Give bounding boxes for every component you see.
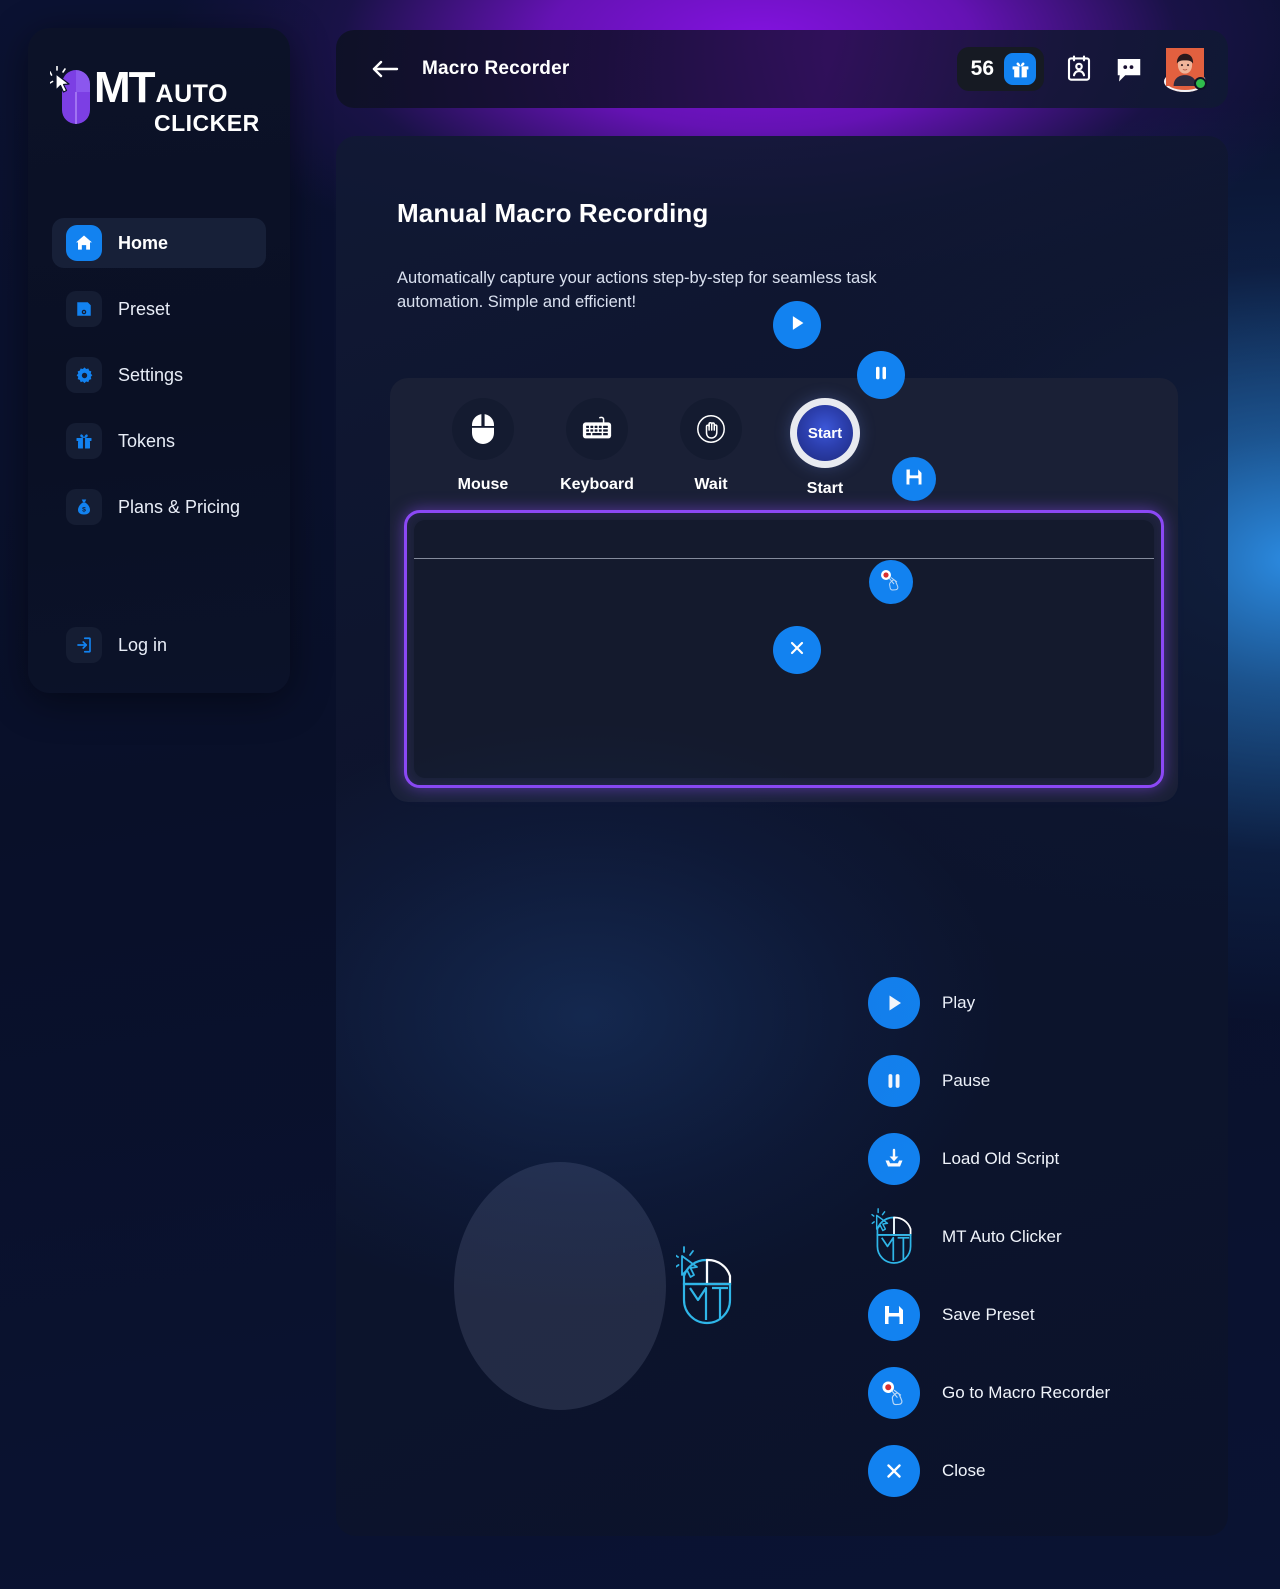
radial-action-record[interactable] xyxy=(869,560,913,604)
legend-label: Pause xyxy=(942,1071,990,1091)
download-tray-icon xyxy=(868,1133,920,1185)
main-content-card: Manual Macro Recording Automatically cap… xyxy=(336,136,1228,1536)
sidebar-item-settings[interactable]: Settings xyxy=(52,350,266,400)
token-count: 56 xyxy=(971,57,994,81)
macro-toolbar-panel: Mouse xyxy=(390,378,1178,802)
action-legend: Play Pause Load Old Sc xyxy=(868,964,1198,1510)
legend-item-save-preset[interactable]: Save Preset xyxy=(868,1276,1198,1354)
legend-item-play[interactable]: Play xyxy=(868,964,1198,1042)
legend-item-load-old-script[interactable]: Load Old Script xyxy=(868,1120,1198,1198)
legend-item-mt-auto-clicker[interactable]: MT Auto Clicker xyxy=(868,1198,1198,1276)
login-icon xyxy=(66,627,102,663)
avatar[interactable] xyxy=(1164,48,1206,90)
pause-icon xyxy=(871,363,891,388)
script-header-divider xyxy=(414,558,1154,559)
gift-icon xyxy=(66,423,102,459)
tool-start[interactable]: Start Start xyxy=(768,398,882,498)
keyboard-icon xyxy=(566,398,628,460)
legend-label: Save Preset xyxy=(942,1305,1035,1325)
mt-mouse-outline-icon xyxy=(676,1244,738,1330)
tool-mouse[interactable]: Mouse xyxy=(426,398,540,494)
tool-wait[interactable]: Wait xyxy=(654,398,768,494)
tool-keyboard[interactable]: Keyboard xyxy=(540,398,654,494)
close-x-icon xyxy=(787,638,807,663)
radial-menu-core[interactable] xyxy=(454,1162,666,1410)
record-cursor-icon xyxy=(868,1367,920,1419)
legend-item-go-to-macro-recorder[interactable]: Go to Macro Recorder xyxy=(868,1354,1198,1432)
sidebar-item-plans-pricing[interactable]: $ Plans & Pricing xyxy=(52,482,266,532)
arrow-left-icon[interactable] xyxy=(370,57,400,81)
sidebar-item-label: Settings xyxy=(118,365,183,386)
start-button-text: Start xyxy=(808,425,842,442)
svg-text:$: $ xyxy=(82,507,86,514)
page-description: Automatically capture your actions step-… xyxy=(397,266,957,315)
token-balance-pill[interactable]: 56 xyxy=(957,47,1044,91)
mouse-icon xyxy=(452,398,514,460)
sidebar-item-label: Home xyxy=(118,233,168,254)
sidebar-item-label: Plans & Pricing xyxy=(118,497,240,518)
mt-mouse-outline-icon xyxy=(868,1211,920,1263)
legend-label: MT Auto Clicker xyxy=(942,1227,1062,1247)
radial-action-pause[interactable] xyxy=(857,351,905,399)
tool-label: Keyboard xyxy=(560,476,634,494)
legend-label: Close xyxy=(942,1461,985,1481)
sidebar-item-label: Tokens xyxy=(118,431,175,452)
hand-icon xyxy=(680,398,742,460)
tool-label: Mouse xyxy=(458,476,509,494)
money-bag-icon: $ xyxy=(66,489,102,525)
logo-auto-text: AUTO xyxy=(156,82,228,107)
sidebar-nav: Home Preset xyxy=(28,218,290,686)
tool-buttons-row: Mouse xyxy=(426,398,882,498)
play-icon xyxy=(786,312,808,339)
radial-action-play[interactable] xyxy=(773,301,821,349)
logo-wordmark: MT AUTO CLICKER xyxy=(108,62,260,135)
radial-menu-preview xyxy=(376,956,796,1416)
radial-action-save[interactable] xyxy=(892,457,936,501)
sidebar-item-label: Preset xyxy=(118,299,170,320)
tool-label: Wait xyxy=(694,476,727,494)
start-button-icon[interactable]: Start xyxy=(790,398,860,468)
floppy-disk-icon xyxy=(904,467,924,492)
save-icon xyxy=(66,291,102,327)
app-logo[interactable]: MT AUTO CLICKER xyxy=(50,60,270,136)
radial-action-close[interactable] xyxy=(773,626,821,674)
tool-label: Start xyxy=(807,480,843,498)
record-cursor-icon xyxy=(878,567,904,598)
start-button-inner: Start xyxy=(797,405,853,461)
legend-item-close[interactable]: Close xyxy=(868,1432,1198,1510)
chat-bubble-icon[interactable] xyxy=(1114,54,1144,84)
page-title-header: Macro Recorder xyxy=(422,58,569,80)
gift-icon[interactable] xyxy=(1004,53,1036,85)
header-actions: 56 xyxy=(957,47,1206,91)
logo-mt-text: MT xyxy=(94,66,154,110)
contact-card-icon[interactable] xyxy=(1064,54,1094,84)
home-icon xyxy=(66,225,102,261)
sidebar-item-preset[interactable]: Preset xyxy=(52,284,266,334)
status-badge xyxy=(1194,77,1207,90)
close-x-icon xyxy=(868,1445,920,1497)
pause-icon xyxy=(868,1055,920,1107)
sidebar: MT AUTO CLICKER Home xyxy=(28,28,290,693)
legend-item-pause[interactable]: Pause xyxy=(868,1042,1198,1120)
nav-spacer xyxy=(28,548,290,620)
legend-label: Load Old Script xyxy=(942,1149,1059,1169)
sidebar-item-tokens[interactable]: Tokens xyxy=(52,416,266,466)
floppy-disk-icon xyxy=(868,1289,920,1341)
legend-label: Go to Macro Recorder xyxy=(942,1383,1110,1403)
logo-clicker-text: CLICKER xyxy=(154,112,260,135)
app-root: MT AUTO CLICKER Home xyxy=(0,0,1280,1589)
legend-label: Play xyxy=(942,993,975,1013)
sidebar-item-label: Log in xyxy=(118,635,167,656)
sidebar-item-login[interactable]: Log in xyxy=(52,620,266,670)
page-title: Manual Macro Recording xyxy=(397,198,708,229)
play-icon xyxy=(868,977,920,1029)
sidebar-item-home[interactable]: Home xyxy=(52,218,266,268)
gear-icon xyxy=(66,357,102,393)
top-header: Macro Recorder 56 xyxy=(336,30,1228,108)
